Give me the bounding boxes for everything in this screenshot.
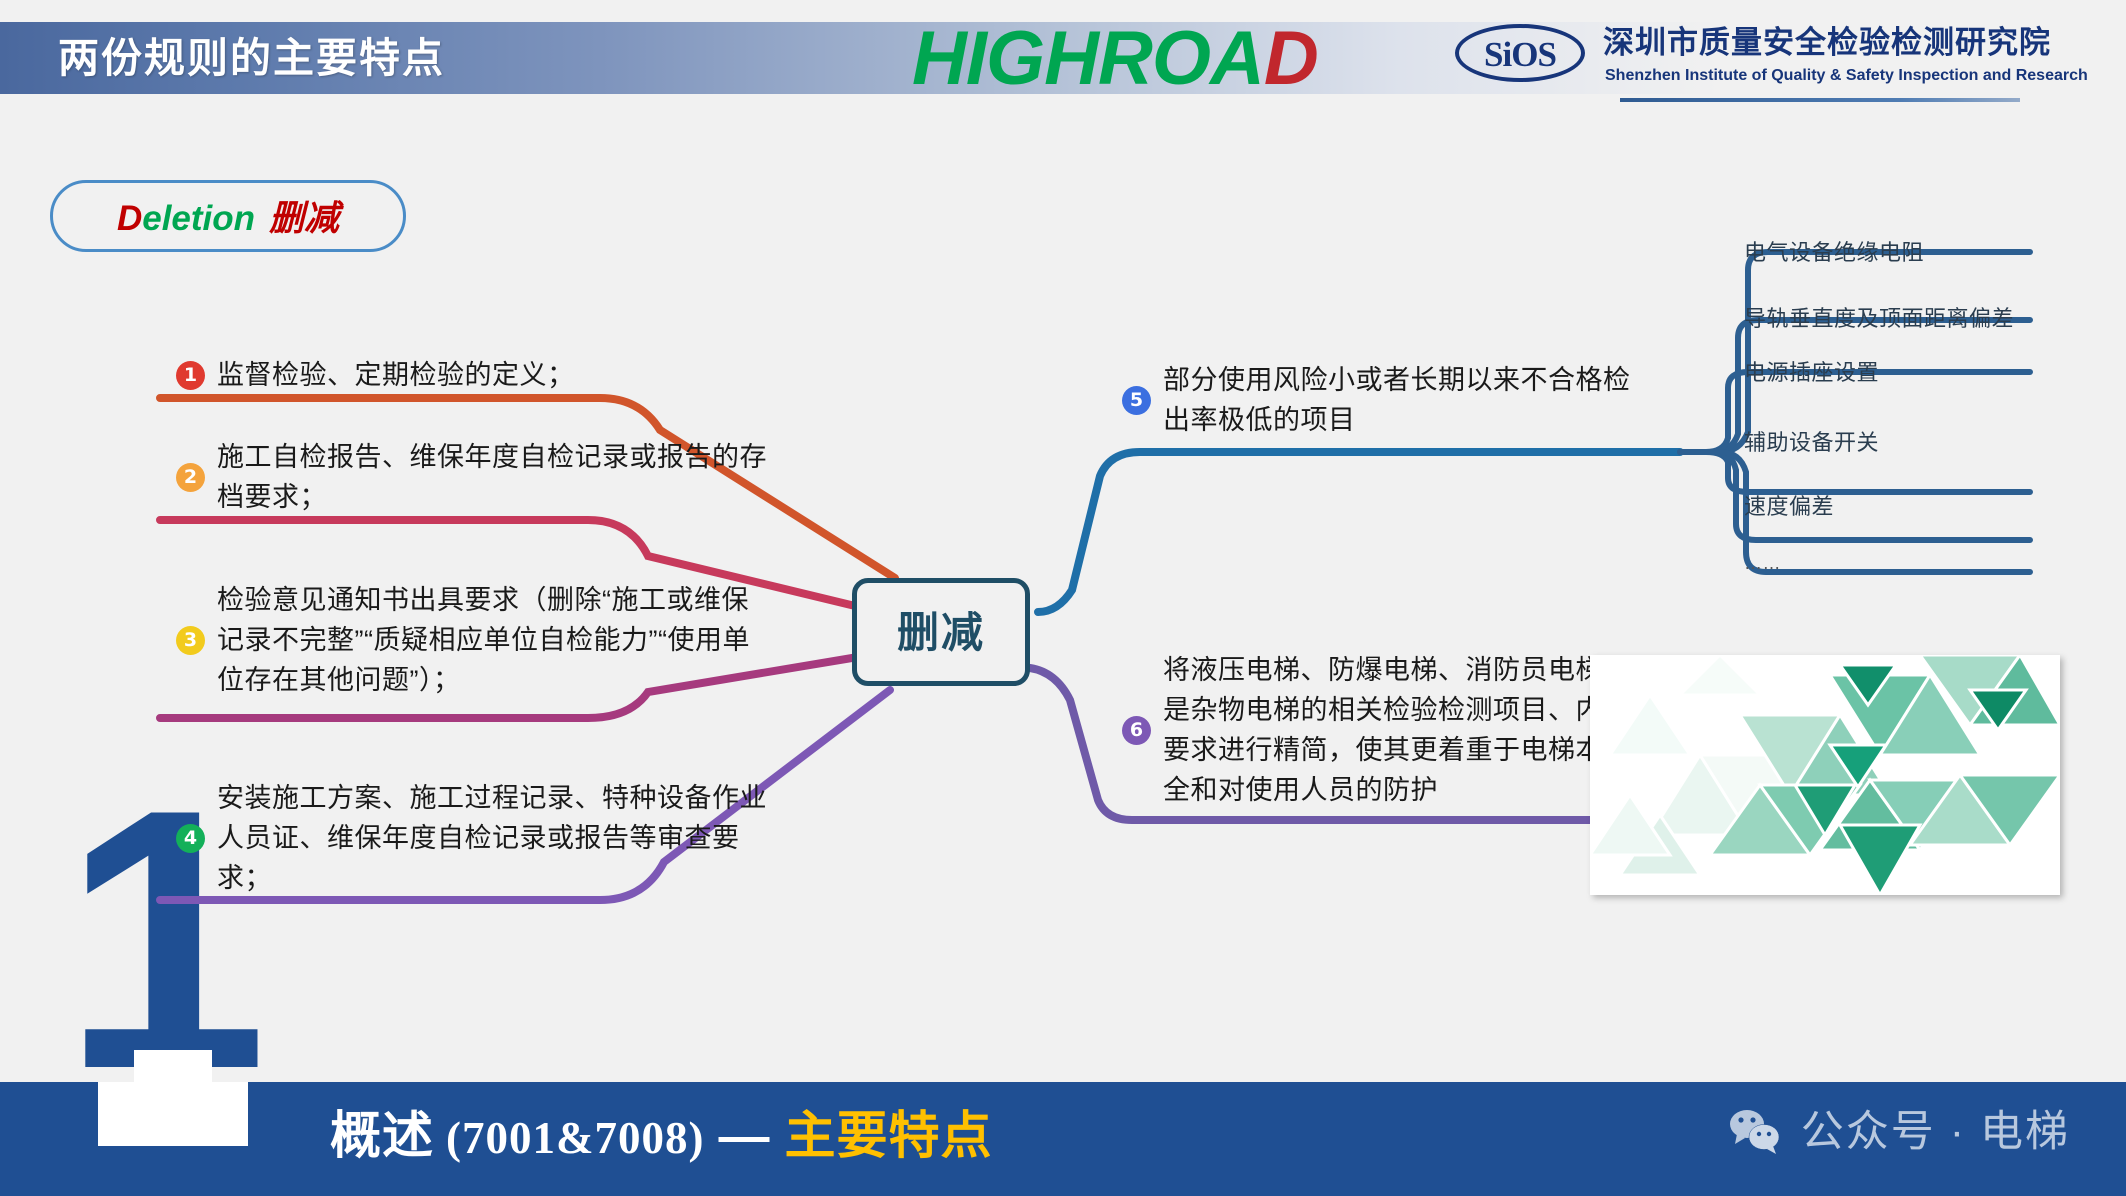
- branch-text-1: 监督检验、定期检验的定义；: [217, 355, 575, 395]
- footer-title-code: (7001&7008): [446, 1113, 704, 1163]
- footer-title-highlight: 主要特点: [784, 1107, 992, 1164]
- footer-numeral-pedestal: [98, 1082, 248, 1146]
- branch-item-1[interactable]: 1 监督检验、定期检验的定义；: [176, 355, 776, 395]
- sub-item-2[interactable]: 导轨垂直度及顶面距离偏差: [1744, 304, 2014, 334]
- deletion-chinese: 删减: [269, 199, 339, 238]
- deletion-rest-letters: eletion: [142, 199, 255, 238]
- logo-underline: [1620, 98, 2020, 102]
- connector-sub-5: [1680, 452, 2030, 540]
- deletion-badge-text: Deletion删减: [53, 197, 403, 241]
- branch-text-4: 安装施工方案、施工过程记录、特种设备作业人员证、维保年度自检记录或报告等审查要求…: [217, 778, 776, 898]
- mindmap-center-node[interactable]: 删减: [852, 578, 1030, 686]
- wechat-icon: [1729, 1109, 1783, 1155]
- branch-text-3: 检验意见通知书出具要求（删除“施工或维保记录不完整”“质疑相应单位自检能力”“使…: [217, 580, 776, 700]
- branch-text-2: 施工自检报告、维保年度自检记录或报告的存档要求；: [217, 437, 776, 517]
- branch-number-5: 5: [1122, 386, 1151, 415]
- slide-canvas: 两份规则的主要特点 HIGHROAD SiOS 深圳市质量安全检验检测研究院 S…: [0, 0, 2126, 1196]
- wechat-credit: 公众号 · 电梯: [1729, 1106, 2070, 1158]
- branch-text-6: 将液压电梯、防爆电梯、消防员电梯特别是杂物电梯的相关检验检测项目、内容和要求进行…: [1163, 650, 1662, 810]
- wechat-label: 公众号 · 电梯: [1801, 1106, 2070, 1158]
- connector-sub-6: [1680, 452, 2030, 572]
- sub-item-1[interactable]: 电气设备绝缘电阻: [1744, 238, 1924, 268]
- highroad-red-letter: D: [1264, 16, 1318, 101]
- sub-item-3[interactable]: 电源插座设置: [1744, 358, 1879, 388]
- branch-number-2: 2: [176, 463, 205, 492]
- branch-number-3: 3: [176, 626, 205, 655]
- footer-title: 概述(7001&7008)—主要特点: [330, 1104, 993, 1170]
- footer-title-dash: —: [718, 1107, 770, 1164]
- center-node-label: 删减: [857, 605, 1025, 661]
- connector-sub-4: [1680, 452, 2030, 492]
- branch-number-4: 4: [176, 824, 205, 853]
- sub-item-4[interactable]: 辅助设备开关: [1744, 428, 1879, 458]
- connector-branch-5: [1038, 452, 1680, 612]
- sios-logo: SiOS 深圳市质量安全检验检测研究院 Shenzhen Institute o…: [1455, 16, 2015, 96]
- branch-number-6: 6: [1122, 716, 1151, 745]
- branch-text-5: 部分使用风险小或者长期以来不合格检出率极低的项目: [1163, 360, 1642, 440]
- sios-mark-text: SiOS: [1459, 36, 1581, 74]
- institute-name-en: Shenzhen Institute of Quality & Safety I…: [1605, 66, 2088, 86]
- highroad-wordmark: HIGHROAD: [912, 12, 1318, 106]
- connector-sub-1: [1680, 252, 2030, 452]
- sub-item-6[interactable]: ……: [1744, 548, 1781, 578]
- deletion-badge: Deletion删减: [50, 180, 406, 252]
- branch-item-2[interactable]: 2 施工自检报告、维保年度自检记录或报告的存档要求；: [176, 437, 776, 517]
- highroad-green-text: HIGHROA: [912, 16, 1264, 101]
- branch-item-6[interactable]: 6 将液压电梯、防爆电梯、消防员电梯特别是杂物电梯的相关检验检测项目、内容和要求…: [1122, 650, 1662, 810]
- branch-number-1: 1: [176, 361, 205, 390]
- page-title: 两份规则的主要特点: [58, 27, 445, 89]
- branch-item-5[interactable]: 5 部分使用风险小或者长期以来不合格检出率极低的项目: [1122, 360, 1642, 440]
- decorative-triangle-image: [1590, 655, 2060, 895]
- institute-name-cn: 深圳市质量安全检验检测研究院: [1603, 24, 2051, 62]
- sios-oval-mark: SiOS: [1455, 24, 1585, 82]
- sub-item-5[interactable]: 速度偏差: [1744, 492, 1834, 522]
- branch-item-3[interactable]: 3 检验意见通知书出具要求（删除“施工或维保记录不完整”“质疑相应单位自检能力”…: [176, 580, 776, 700]
- footer-title-cn: 概述: [330, 1107, 434, 1164]
- branch-item-4[interactable]: 4 安装施工方案、施工过程记录、特种设备作业人员证、维保年度自检记录或报告等审查…: [176, 778, 776, 898]
- deletion-first-letter: D: [117, 199, 142, 238]
